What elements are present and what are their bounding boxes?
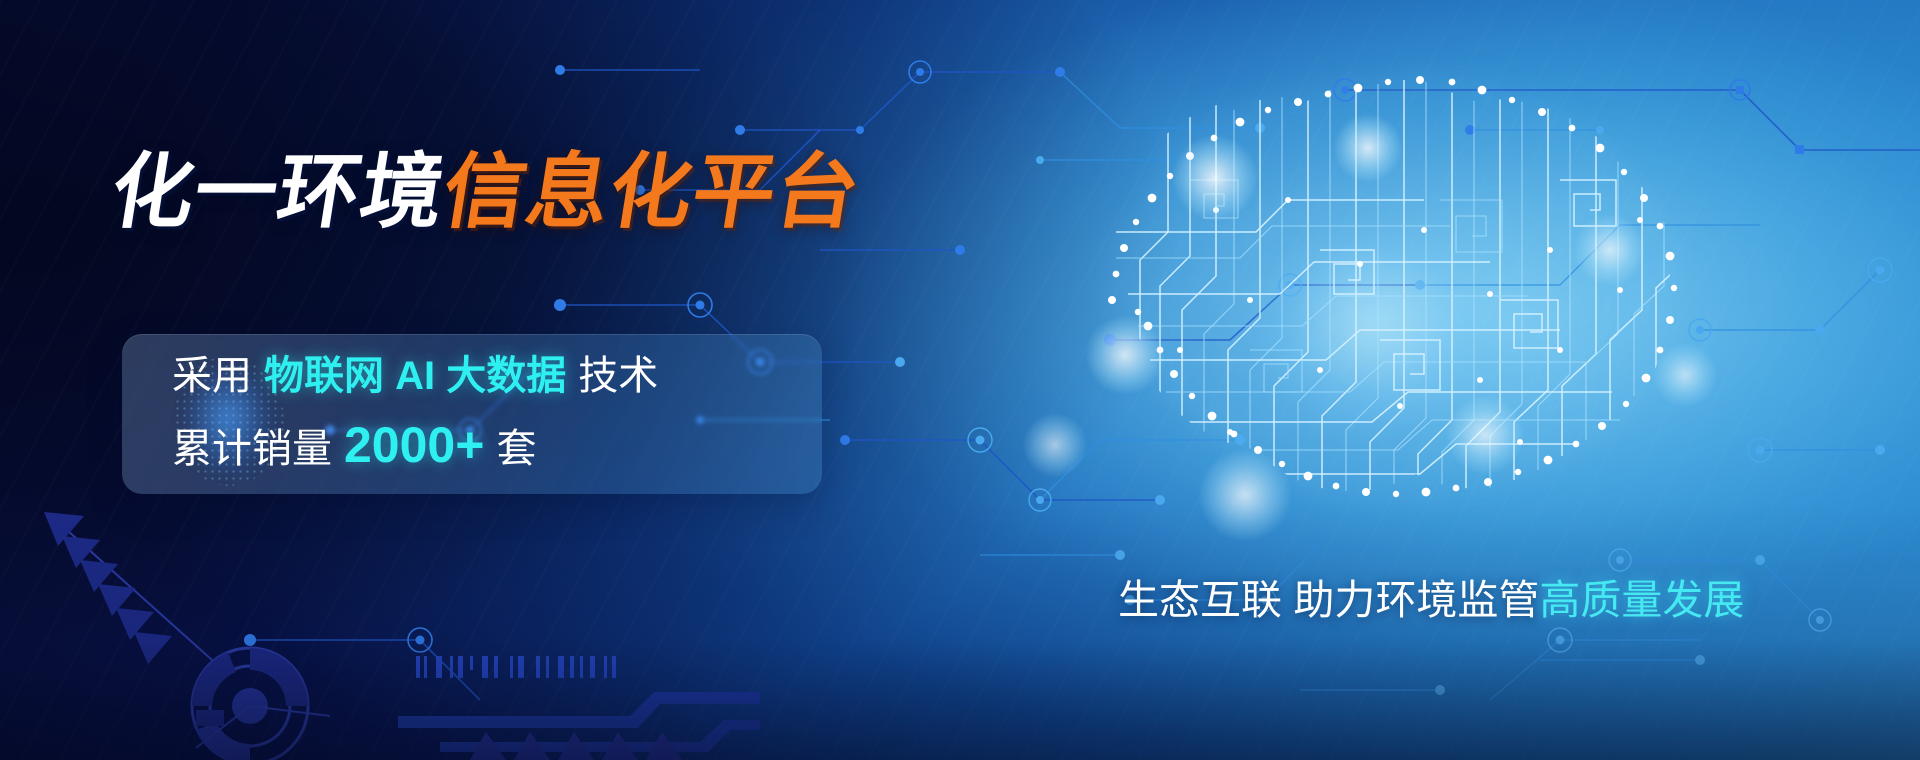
card-line2-prefix: 累计销量 [172,427,332,471]
card-line-technology: 采用物联网 AI 大数据技术 [172,356,658,396]
tagline: 生态互联 助力环境监管高质量发展 [1118,580,1744,621]
info-card: 采用物联网 AI 大数据技术 累计销量2000+套 [122,334,822,494]
title-white-part: 化一环境 [105,147,451,238]
card-line1-suffix: 技术 [578,354,658,398]
circuit-brain-icon [1020,50,1740,520]
banner-root: 化一环境信息化平台 采用物联网 AI 大数据技术 累计销量2000+套 生态互联… [0,0,1920,760]
hud-dial-decoration [0,510,760,760]
page-title: 化一环境信息化平台 [112,140,872,250]
tagline-white-part: 生态互联 助力环境监管 [1118,577,1539,623]
card-line2-highlight: 2000+ [344,417,484,473]
tagline-cyan-part: 高质量发展 [1539,577,1744,623]
card-line2-suffix: 套 [496,427,536,471]
card-line-sales: 累计销量2000+套 [172,420,536,470]
card-line1-highlight: 物联网 AI 大数据 [264,354,566,398]
title-orange-part: 信息化平台 [437,147,866,238]
card-line1-prefix: 采用 [172,354,252,398]
title-line: 化一环境信息化平台 [104,140,868,246]
